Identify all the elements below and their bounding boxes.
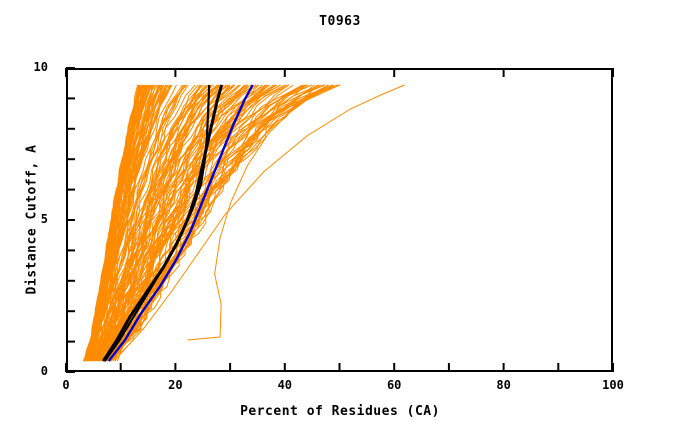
x-axis-label: Percent of Residues (CA) [0, 404, 680, 419]
curve-canvas [68, 70, 611, 370]
x-tick-label: 60 [364, 378, 424, 392]
y-tick-label: 5 [20, 212, 48, 226]
y-tick-label: 0 [20, 364, 48, 378]
x-tick-label: 0 [36, 378, 96, 392]
x-tick-label: 80 [474, 378, 534, 392]
plot-figure: T0963 Percent of Residues (CA) Distance … [0, 0, 680, 440]
plot-area [66, 68, 613, 372]
x-tick-label: 20 [145, 378, 205, 392]
y-tick-label: 10 [20, 60, 48, 74]
plot-title: T0963 [0, 14, 680, 29]
x-tick-label: 100 [583, 378, 643, 392]
x-tick-label: 40 [255, 378, 315, 392]
